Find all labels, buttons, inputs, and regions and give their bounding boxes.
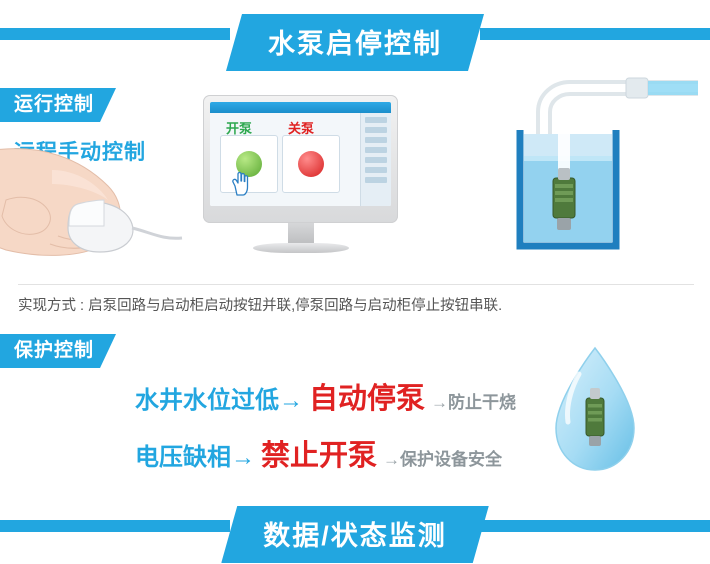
protection-row: 电压缺相→禁止开泵→保护设备安全 [135, 432, 502, 474]
top-banner-title: 水泵启停控制 [226, 14, 484, 71]
app-sidebar [360, 113, 391, 206]
banner-bar-right [480, 520, 710, 532]
ribbon-run-control: 运行控制 [0, 88, 116, 122]
monitor-stand-neck [288, 223, 314, 245]
sidebar-row [365, 127, 387, 133]
monitor-frame: 开泵 关泵 [203, 95, 398, 223]
banner-bar-left [0, 28, 230, 40]
monitor-stand-base [253, 243, 349, 253]
sidebar-row [365, 177, 387, 183]
arrow-icon: → [279, 387, 303, 414]
sidebar-row [365, 117, 387, 123]
monitor-screen: 开泵 关泵 [210, 102, 391, 206]
hand-cursor-icon [230, 171, 252, 197]
banner-bar-left [0, 520, 230, 532]
protection-description: 防止干烧 [448, 393, 516, 412]
top-banner: 水泵启停控制 [0, 6, 710, 62]
protection-condition: 水井水位过低 [135, 387, 279, 414]
stop-pump-indicator [298, 151, 324, 177]
small-arrow-icon: → [383, 450, 400, 469]
sidebar-row [365, 167, 387, 173]
app-titlebar [210, 102, 391, 113]
well-pump-illustration [498, 60, 698, 250]
hand-with-mouse-illustration [0, 140, 190, 270]
desktop-monitor: 开泵 关泵 [203, 95, 398, 265]
bottom-banner-title: 数据/状态监测 [221, 506, 489, 563]
sidebar-row [365, 147, 387, 153]
water-drop-illustration [536, 342, 654, 482]
stop-pump-button[interactable] [282, 135, 340, 193]
sidebar-row [365, 157, 387, 163]
protection-action: 自动停泵 [309, 383, 425, 415]
implementation-note: 实现方式 : 启泵回路与启动柜启动按钮并联,停泵回路与启动柜停止按钮串联. [18, 284, 694, 315]
ribbon-protect-control: 保护控制 [0, 334, 116, 368]
protection-description: 保护设备安全 [400, 450, 502, 469]
protection-condition: 电压缺相 [135, 444, 231, 471]
sidebar-row [365, 137, 387, 143]
small-arrow-icon: → [431, 393, 448, 412]
protection-action: 禁止开泵 [261, 440, 377, 472]
arrow-icon: → [231, 444, 255, 471]
bottom-banner: 数据/状态监测 [0, 498, 710, 554]
protection-row: 水井水位过低→自动停泵→防止干烧 [135, 375, 516, 417]
banner-bar-right [480, 28, 710, 40]
